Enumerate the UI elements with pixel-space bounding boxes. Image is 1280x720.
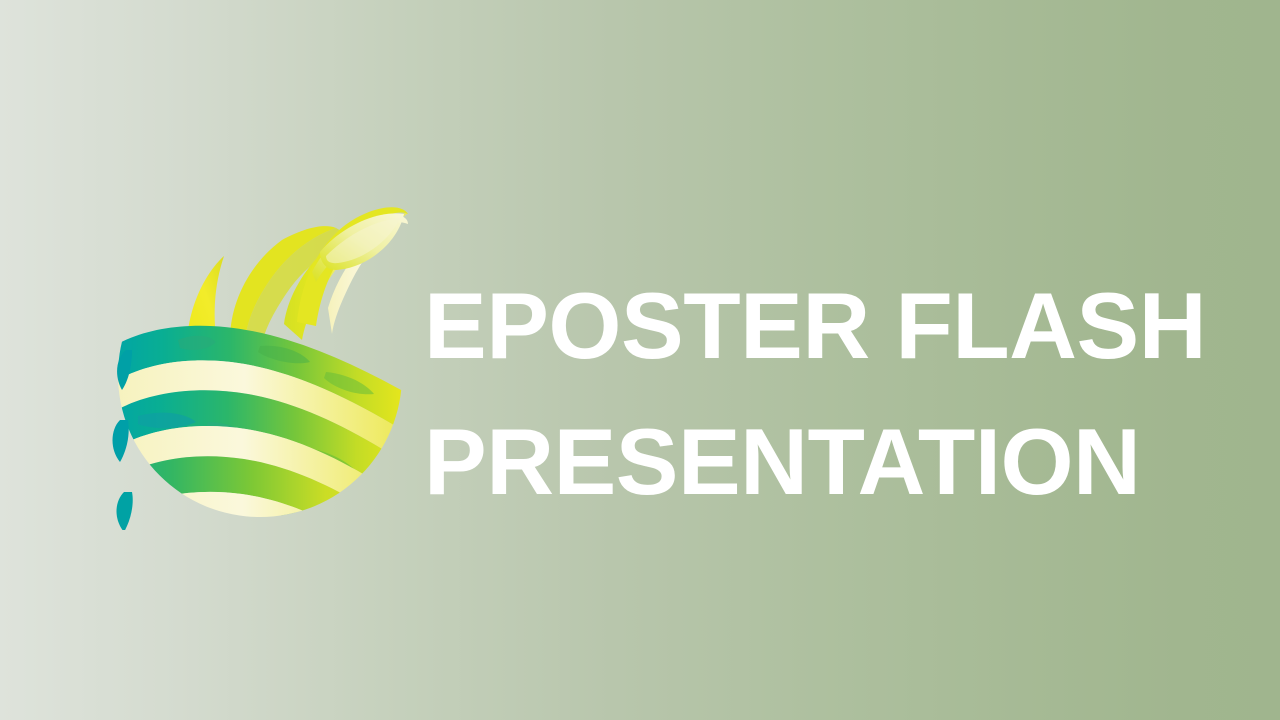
globe-ribbon-logo-graphic: [112, 200, 412, 530]
slide-title: EPOSTER FLASH PRESENTATION: [424, 258, 1214, 530]
title-line-2: PRESENTATION: [424, 394, 1214, 530]
title-line-1: EPOSTER FLASH: [424, 258, 1214, 394]
globe-ribbon-logo: [112, 200, 412, 530]
logo-leaf-tail: [297, 207, 408, 326]
logo-globe-bands: [112, 326, 412, 530]
title-slide: EPOSTER FLASH PRESENTATION: [0, 0, 1280, 720]
